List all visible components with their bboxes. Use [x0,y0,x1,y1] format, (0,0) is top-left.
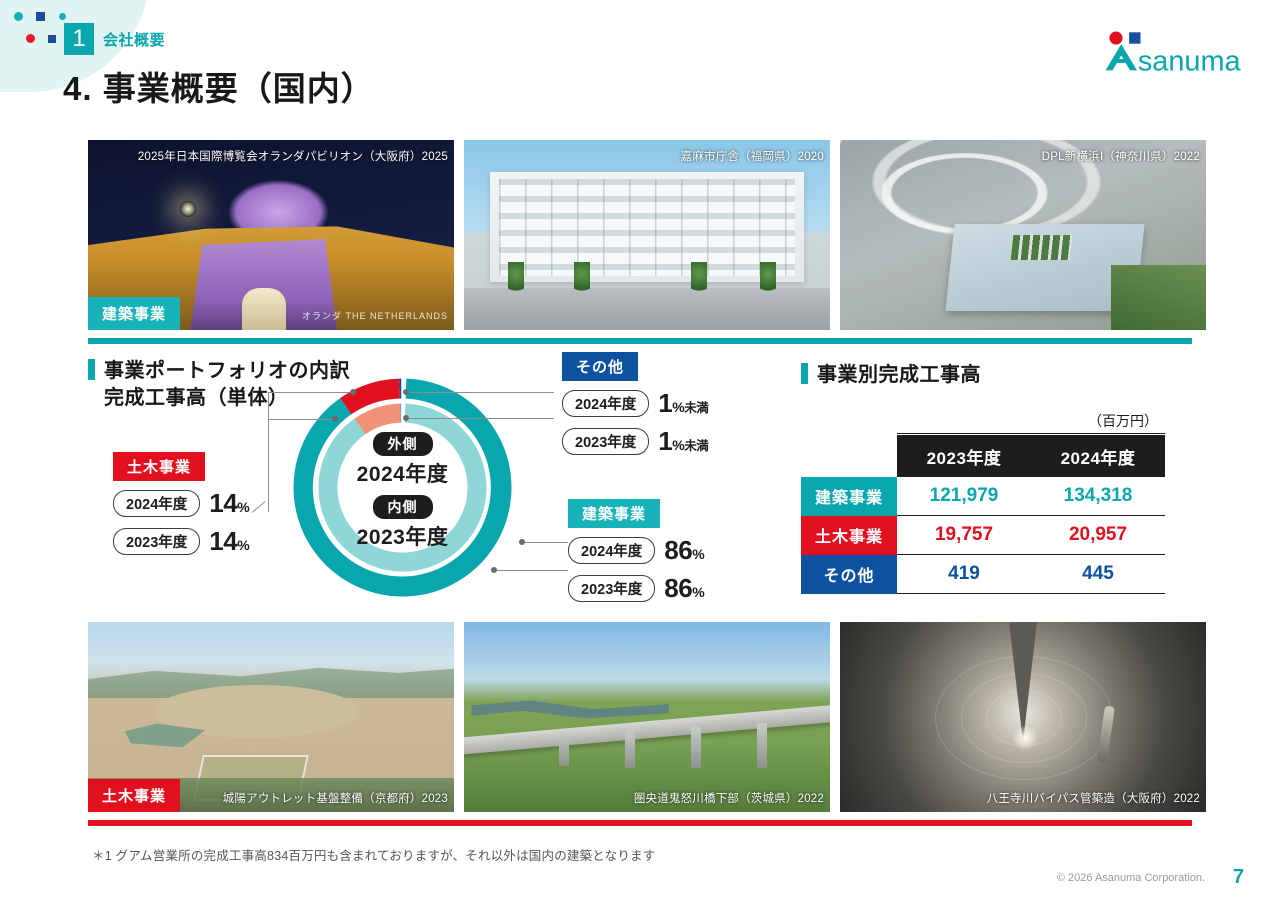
legend-year-pill: 2024年度 [562,390,649,417]
tunnel-probe [1009,622,1037,742]
leader-dot-other-2023 [403,415,409,421]
table-unit-label: （百万円） [1088,411,1158,431]
dot-red-1 [26,34,35,43]
sales-table: 2023年度 2024年度 建築事業 121,979 134,318 土木事業 … [801,435,1165,594]
legend-year-pill: 2024年度 [113,490,200,517]
bridge-pier-1 [559,732,569,766]
svg-text:sanuma: sanuma [1138,45,1242,74]
table-corner-cell [801,435,897,477]
legend-percent-unit: % [237,537,249,553]
table-cell-civil-fy2024: 20,957 [1031,516,1165,555]
legend-row-civil-2024: 2024年度 14% [113,488,249,519]
legend-percent: 86% [664,573,704,604]
legend-percent-value: 14 [209,488,237,518]
photo-kinugawa-bridge: 圏央道鬼怒川橋下部（茨城県）2022 [464,622,830,812]
table-cell-other-fy2024: 445 [1031,555,1165,594]
cityhall-building-shape [490,172,805,282]
photo-hachiojigawa-pipe: 八王寺川バイパス管築造（大阪府）2022 [840,622,1206,812]
photo-caption: 2025年日本国際博覧会オランダパビリオン（大阪府）2025 [138,148,448,164]
asanuma-logo: sanuma [1102,30,1242,74]
legend-year-pill: 2024年度 [568,537,655,564]
page-number: 7 [1233,866,1244,889]
legend-row-other-2023: 2023年度 1%未満 [562,426,708,457]
dot-blue-2 [48,35,56,43]
leader-dot-civil-2024 [350,389,356,395]
divider-red-bottom [88,820,1192,826]
table-cell-other-fy2023: 419 [897,555,1031,594]
tunnel-light [1012,725,1038,751]
donut-center-outer: 外側 2024年度 [285,432,520,488]
legend-percent: 1%未満 [658,426,708,457]
legend-percent-value: 86 [664,573,692,603]
legend-percent-unit: % [237,499,249,515]
center-year-inner: 2023年度 [285,521,520,551]
tree-2 [574,262,590,296]
legend-title-civil: 土木事業 [113,452,205,481]
asanuma-logo-icon: sanuma [1102,30,1242,74]
leader-civil-2023 [268,419,336,420]
legend-title-architecture: 建築事業 [568,499,660,528]
table-cell-arch-fy2024: 134,318 [1031,477,1165,516]
leader-civil-vertical [268,392,269,512]
bridge-pier-4 [757,723,767,769]
photo-caption: 圏央道鬼怒川橋下部（茨城県）2022 [634,790,824,806]
heading-accent-bar-2 [801,363,808,384]
tree-3 [691,262,707,296]
section-number-badge: 1 [64,23,94,55]
legend-percent-suffix: 未満 [684,439,708,453]
photo-dpl-shin-yokohama: DPL新横浜Ⅰ（神奈川県）2022 [840,140,1206,330]
legend-row-civil-2023: 2023年度 14% [113,526,249,557]
table-cell-arch-fy2023: 121,979 [897,477,1031,516]
legend-year-pill: 2023年度 [562,428,649,455]
chart-heading-line2: 完成工事高（単体） [104,387,289,409]
legend-year-pill: 2023年度 [568,575,655,602]
leader-arch-2024 [523,542,568,543]
center-year-outer: 2024年度 [285,458,520,488]
leader-dot-civil-2023 [332,416,338,422]
legend-percent-unit: % [692,584,704,600]
table-heading-text: 事業別完成工事高 [817,364,981,386]
center-pill-inner: 内側 [373,495,433,519]
legend-other: その他 2024年度 1%未満 2023年度 1%未満 [562,352,708,457]
legend-architecture: 建築事業 2024年度 86% 2023年度 86% [568,499,704,604]
table-row: 土木事業 19,757 20,957 [801,516,1165,555]
legend-row-arch-2023: 2023年度 86% [568,573,704,604]
legend-row-arch-2024: 2024年度 86% [568,535,704,566]
leader-other-2024 [406,392,554,393]
legend-percent-unit: % [672,437,684,453]
pavilion-streetlight [180,201,196,217]
leader-dot-arch-2024 [519,539,525,545]
pavilion-entrance [242,288,286,330]
leader-dot-arch-2023 [491,567,497,573]
table-rowlabel-civil: 土木事業 [801,516,897,555]
photo-row-architecture: オランダ THE NETHERLANDS 2025年日本国際博覧会オランダパビリ… [88,140,1206,330]
footnote: ＊1 グアム営業所の完成工事高834百万円も含まれておりますが、それ以外は国内の… [92,845,655,864]
legend-percent: 14% [209,488,249,519]
photo-caption: DPL新横浜Ⅰ（神奈川県）2022 [1042,148,1200,164]
legend-percent-value: 14 [209,526,237,556]
copyright: © 2026 Asanuma Corporation. [1057,872,1205,884]
photo-caption: 八王寺川バイパス管築造（大阪府）2022 [987,790,1200,806]
legend-percent-suffix: 未満 [684,401,708,415]
greenery-area [1111,265,1206,330]
legend-percent-value: 1 [658,426,672,456]
leader-dot-other-2024 [403,389,409,395]
legend-percent-value: 86 [664,535,692,565]
photo-kama-city-hall: 嘉麻市庁舎（福岡県）2020 [464,140,830,330]
legend-percent: 1%未満 [658,388,708,419]
photo-joyo-outlet: 城陽アウトレット基盤整備（京都府）2023 土木事業 [88,622,454,812]
dot-blue-1 [36,12,45,21]
legend-percent-unit: % [692,546,704,562]
heading-accent-bar [88,359,95,380]
slide-root: 1 会社概要 4. 事業概要（国内） sanuma オランダ THE NETHE… [0,0,1280,905]
section-label: 会社概要 [103,29,165,50]
dot-teal-1 [14,12,23,21]
photo-tag-architecture: 建築事業 [88,297,180,330]
legend-year-pill: 2023年度 [113,528,200,555]
leader-other-2023 [406,418,554,419]
leader-civil-2024 [268,392,354,393]
photo-caption: 城陽アウトレット基盤整備（京都府）2023 [223,790,448,806]
tree-4 [760,262,776,296]
table-col-fy2024: 2024年度 [1031,435,1165,477]
table-section-heading: 事業別完成工事高 [801,358,981,387]
table-cell-civil-fy2023: 19,757 [897,516,1031,555]
legend-percent-value: 1 [658,388,672,418]
legend-percent: 86% [664,535,704,566]
photo-row-civil: 城陽アウトレット基盤整備（京都府）2023 土木事業 圏央道鬼怒川橋下部（茨城県… [88,622,1206,812]
legend-percent: 14% [209,526,249,557]
pavilion-signage-text: オランダ THE NETHERLANDS [302,309,448,322]
leader-arch-2023 [495,570,568,571]
divider-teal-top [88,338,1192,344]
donut-chart: 外側 2024年度 内側 2023年度 [285,370,520,605]
legend-row-other-2024: 2024年度 1%未満 [562,388,708,419]
legend-civil: 土木事業 2024年度 14% 2023年度 14% [113,452,249,557]
bridge-pier-2 [625,730,635,768]
photo-netherlands-pavilion: オランダ THE NETHERLANDS 2025年日本国際博覧会オランダパビリ… [88,140,454,330]
table-row: 建築事業 121,979 134,318 [801,477,1165,516]
table-rowlabel-architecture: 建築事業 [801,477,897,516]
dot-teal-2 [59,13,66,20]
tree-1 [508,262,524,296]
photo-caption: 嘉麻市庁舎（福岡県）2020 [681,148,824,164]
donut-center-inner: 内側 2023年度 [285,495,520,551]
legend-title-other: その他 [562,352,638,381]
center-pill-outer: 外側 [373,432,433,456]
table-rowlabel-other: その他 [801,555,897,594]
table-col-fy2023: 2023年度 [897,435,1031,477]
legend-percent-unit: % [672,399,684,415]
photo-tag-civil: 土木事業 [88,779,180,812]
table-header-row: 2023年度 2024年度 [801,435,1165,477]
bridge-pier-3 [691,727,701,769]
logistics-roof-panels [1011,235,1072,260]
table-row: その他 419 445 [801,555,1165,594]
bridge-river [471,698,669,723]
leader-civil-diagonal [252,501,266,513]
page-title: 4. 事業概要（国内） [63,62,375,110]
